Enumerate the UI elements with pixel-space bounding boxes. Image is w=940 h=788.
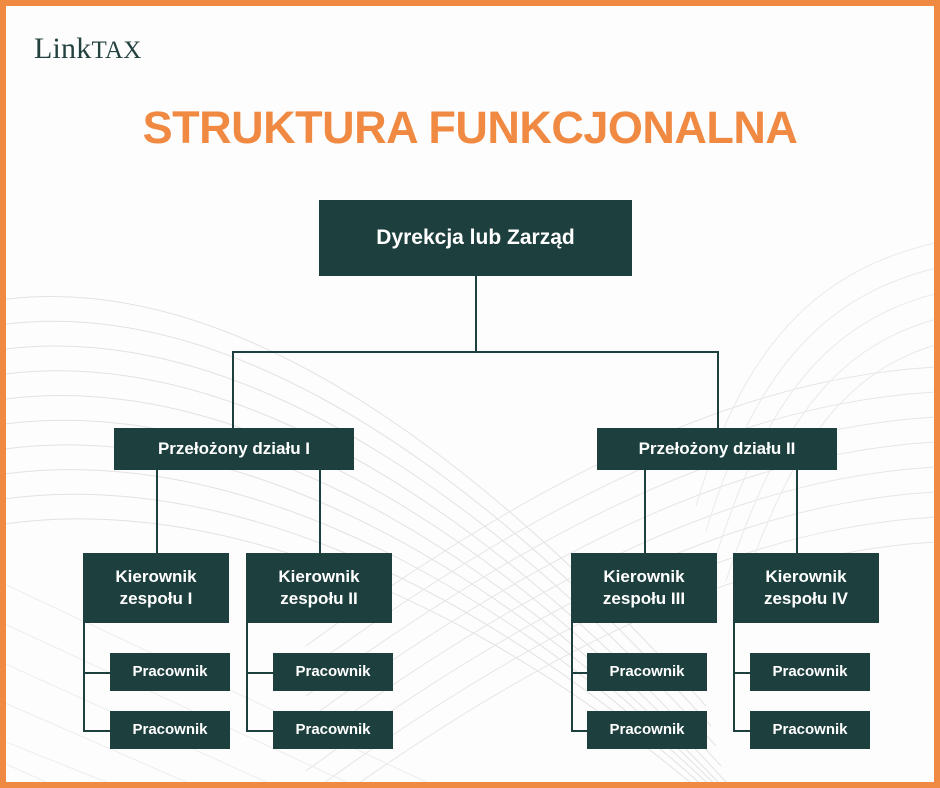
node-label-line2: zespołu IV [764, 588, 848, 610]
connector-mgr3-spine [571, 623, 573, 731]
node-przelozony-dzialu-i[interactable]: Przełożony działu I [114, 428, 354, 470]
connector-level1-bus [232, 351, 719, 353]
connector-mgr2-spine [246, 623, 248, 731]
node-label: Pracownik [772, 720, 847, 740]
node-label-line2: zespołu III [603, 588, 685, 610]
node-pracownik-4b[interactable]: Pracownik [750, 711, 870, 749]
connector-sup2-to-mgr4 [796, 470, 798, 553]
logo-text-primary: Link [34, 32, 91, 65]
node-label-line1: Kierownik [115, 566, 196, 588]
org-chart-infographic: LinkTAX STRUKTURA FUNKCJONALNA Dyrekcja … [0, 0, 940, 788]
node-kierownik-zespolu-iii[interactable]: Kierownik zespołu III [571, 553, 717, 623]
node-kierownik-zespolu-ii[interactable]: Kierownik zespołu II [246, 553, 392, 623]
brand-logo: LinkTAX [34, 32, 141, 66]
node-label: Pracownik [772, 662, 847, 682]
node-pracownik-3a[interactable]: Pracownik [587, 653, 707, 691]
connector-sup1-to-mgr1 [156, 470, 158, 553]
node-label: Przełożony działu II [639, 438, 796, 460]
node-pracownik-3b[interactable]: Pracownik [587, 711, 707, 749]
connector-mgr4-spine [733, 623, 735, 731]
connector-mgr1-to-emp1a [83, 672, 110, 674]
node-pracownik-2a[interactable]: Pracownik [273, 653, 393, 691]
node-pracownik-4a[interactable]: Pracownik [750, 653, 870, 691]
node-przelozony-dzialu-ii[interactable]: Przełożony działu II [597, 428, 837, 470]
node-kierownik-zespolu-i[interactable]: Kierownik zespołu I [83, 553, 229, 623]
node-label: Pracownik [132, 662, 207, 682]
node-pracownik-1a[interactable]: Pracownik [110, 653, 230, 691]
node-label-line2: zespołu II [280, 588, 357, 610]
node-label: Pracownik [609, 720, 684, 740]
node-dyrekcja-lub-zarzad[interactable]: Dyrekcja lub Zarząd [319, 200, 632, 276]
node-label-line1: Kierownik [765, 566, 846, 588]
node-label: Pracownik [295, 720, 370, 740]
page-title: STRUKTURA FUNKCJONALNA [6, 102, 934, 154]
node-label: Przełożony działu I [158, 438, 310, 460]
node-label: Pracownik [132, 720, 207, 740]
node-label: Pracownik [295, 662, 370, 682]
node-label-line1: Kierownik [278, 566, 359, 588]
connector-root-down [475, 276, 477, 352]
connector-bus-to-sup2 [717, 351, 719, 428]
connector-sup2-to-mgr3 [644, 470, 646, 553]
connector-mgr1-spine [83, 623, 85, 731]
node-label: Pracownik [609, 662, 684, 682]
connector-mgr2-to-emp2b [246, 730, 273, 732]
connector-mgr1-to-emp1b [83, 730, 110, 732]
logo-text-secondary: TAX [91, 37, 141, 64]
node-kierownik-zespolu-iv[interactable]: Kierownik zespołu IV [733, 553, 879, 623]
node-pracownik-2b[interactable]: Pracownik [273, 711, 393, 749]
connector-mgr2-to-emp2a [246, 672, 273, 674]
node-pracownik-1b[interactable]: Pracownik [110, 711, 230, 749]
node-label-line1: Kierownik [603, 566, 684, 588]
node-label-line2: zespołu I [120, 588, 193, 610]
connector-sup1-to-mgr2 [319, 470, 321, 553]
connector-bus-to-sup1 [232, 351, 234, 428]
node-label: Dyrekcja lub Zarząd [376, 224, 574, 252]
